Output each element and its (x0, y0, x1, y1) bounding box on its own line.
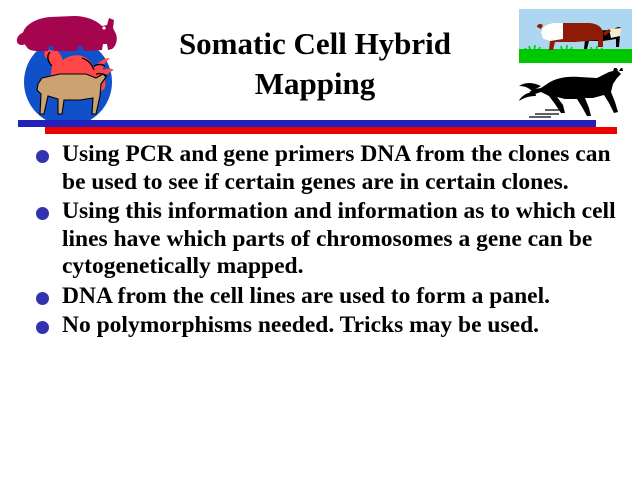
pig-eye (102, 26, 105, 29)
list-item-text: DNA from the cell lines are used to form… (62, 283, 630, 311)
list-item-text: No polymorphisms needed. Tricks may be u… (62, 312, 630, 340)
divider-bar-blue (18, 120, 596, 127)
bullet-dot-icon (36, 150, 49, 163)
bullet-dot-icon (36, 207, 49, 220)
page-title: Somatic Cell Hybrid Mapping (140, 24, 490, 103)
title-line-1: Somatic Cell Hybrid (140, 24, 490, 64)
list-item: Using this information and information a… (30, 198, 630, 281)
list-item-text: Using PCR and gene primers DNA from the … (62, 141, 630, 196)
bullet-dot-icon (36, 321, 49, 334)
cattle-pasture-photo (519, 9, 632, 63)
ground-dust (529, 110, 563, 117)
list-item: DNA from the cell lines are used to form… (30, 283, 630, 311)
bullet-list: Using PCR and gene primers DNA from the … (30, 141, 630, 342)
title-line-2: Mapping (140, 64, 490, 104)
list-item-text: Using this information and information a… (62, 198, 630, 281)
list-item: Using PCR and gene primers DNA from the … (30, 141, 630, 196)
galloping-horse-silhouette (505, 68, 635, 120)
slide-header: Somatic Cell Hybrid Mapping (0, 0, 640, 135)
bullet-dot-icon (36, 292, 49, 305)
grass (519, 49, 632, 63)
livestock-species-logo (8, 4, 128, 128)
divider-bar-red (45, 127, 617, 134)
list-item: No polymorphisms needed. Tricks may be u… (30, 312, 630, 340)
pig-silhouette (17, 16, 117, 51)
